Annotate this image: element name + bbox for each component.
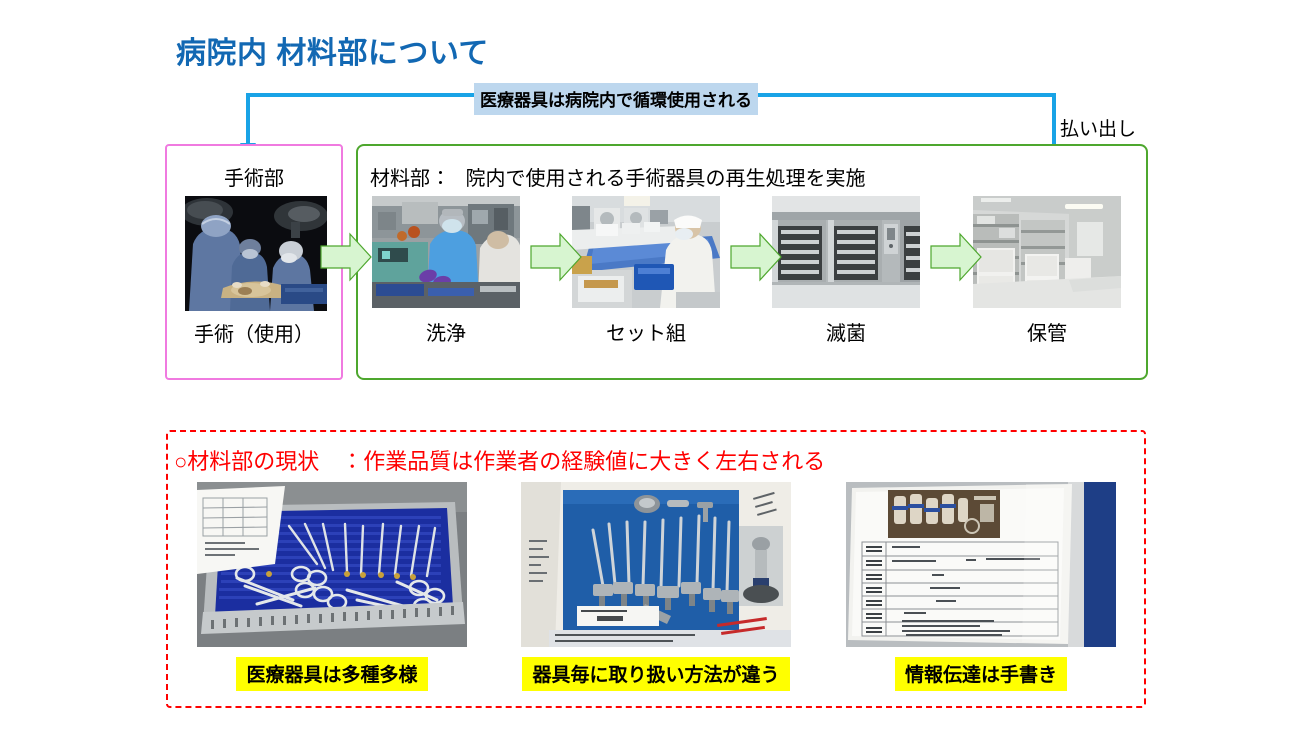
flow-arrow-to-washing — [320, 232, 372, 282]
issue-photo-endoscopic-set — [521, 482, 791, 647]
process-step-set-assembly: セット組 — [572, 196, 720, 346]
process-step-storage-caption: 保管 — [973, 317, 1121, 346]
issue-caption-handwriting: 情報伝達は手書き — [895, 657, 1067, 691]
issue-item-handwriting: 情報伝達は手書き — [846, 482, 1116, 691]
issue-photo-handwritten-form — [846, 482, 1116, 647]
cycle-label: 医療器具は病院内で循環使用される — [474, 83, 758, 115]
process-step-storage-photo — [973, 196, 1121, 308]
operating-room-photo — [185, 196, 327, 311]
page-title: 病院内 材料部について — [176, 28, 489, 72]
process-step-set-assembly-photo — [572, 196, 720, 308]
current-issues-box: ○材料部の現状 ：作業品質は作業者の経験値に大きく左右される — [166, 430, 1146, 708]
current-issues-heading: ○材料部の現状 ：作業品質は作業者の経験値に大きく左右される — [174, 444, 825, 476]
flow-arrow-sterilization-to-storage — [930, 232, 982, 282]
process-step-washing-photo — [372, 196, 520, 308]
process-step-washing: 洗浄 — [372, 196, 520, 346]
operating-room-title: 手術部 — [167, 162, 341, 191]
process-step-sterilization-caption: 滅菌 — [772, 317, 920, 346]
process-step-washing-caption: 洗浄 — [372, 317, 520, 346]
operating-room-caption: 手術（使用） — [167, 318, 341, 347]
process-step-set-assembly-caption: セット組 — [572, 317, 720, 346]
process-step-sterilization-photo — [772, 196, 920, 308]
issue-photo-instrument-tray — [197, 482, 467, 647]
flow-arrow-washing-to-set — [530, 232, 582, 282]
process-step-storage: 保管 — [973, 196, 1121, 346]
cycle-connector-left-line — [246, 93, 250, 145]
process-step-sterilization: 滅菌 — [772, 196, 920, 346]
issue-item-handling: 器具毎に取り扱い方法が違う — [521, 482, 791, 691]
issue-caption-variety: 医療器具は多種多様 — [236, 657, 427, 691]
cssd-heading: 材料部 ： 院内で使用される手術器具の再生処理を実施 — [370, 162, 866, 191]
flow-arrow-set-to-sterilization — [730, 232, 782, 282]
issue-item-variety: 医療器具は多種多様 — [197, 482, 467, 691]
dispatch-label: 払い出し — [1060, 114, 1136, 141]
operating-room-box: 手術部 — [165, 144, 343, 380]
issue-caption-handling: 器具毎に取り扱い方法が違う — [522, 657, 789, 691]
